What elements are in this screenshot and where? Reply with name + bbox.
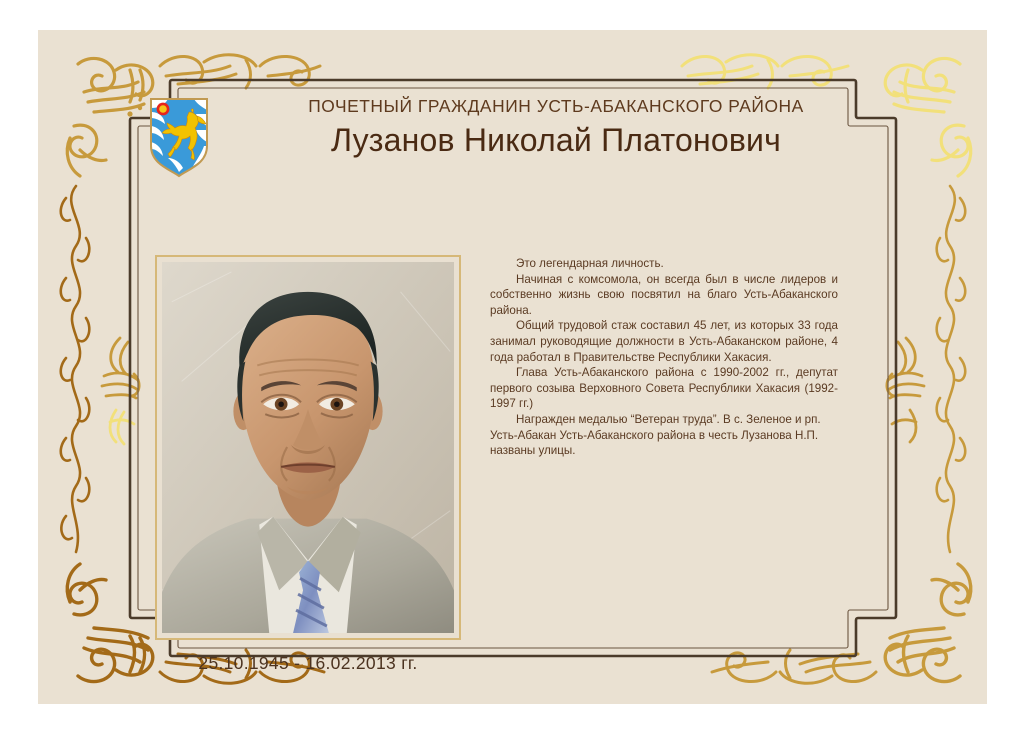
bio-paragraph: Глава Усть-Абаканского района с 1990-200…	[490, 365, 838, 412]
biography-text: Это легендарная личность. Начиная с комс…	[490, 256, 838, 459]
certificate-content: ПОЧЕТНЫЙ ГРАЖДАНИН УСТЬ-АБАКАНСКОГО РАЙО…	[138, 88, 890, 650]
bio-paragraph: Это легендарная личность.	[490, 256, 838, 272]
life-dates: 25.10.1945 - 16.02.2013 гг.	[155, 653, 461, 674]
bio-paragraph: Начиная с комсомола, он всегда был в чис…	[490, 272, 838, 319]
certificate-card: ПОЧЕТНЫЙ ГРАЖДАНИН УСТЬ-АБАКАНСКОГО РАЙО…	[38, 30, 987, 704]
person-name: Лузанов Николай Платонович	[222, 120, 890, 160]
certificate-page: ПОЧЕТНЫЙ ГРАЖДАНИН УСТЬ-АБАКАНСКОГО РАЙО…	[0, 0, 1024, 733]
heading-block: ПОЧЕТНЫЙ ГРАЖДАНИН УСТЬ-АБАКАНСКОГО РАЙО…	[222, 94, 890, 160]
certificate-header: ПОЧЕТНЫЙ ГРАЖДАНИН УСТЬ-АБАКАНСКОГО РАЙО…	[148, 94, 890, 186]
bio-paragraph: Общий трудовой стаж составил 45 лет, из …	[490, 318, 838, 365]
portrait-frame	[155, 255, 461, 640]
bio-paragraph: Награжден медалью “Ветеран труда”. В с. …	[490, 412, 838, 459]
coat-of-arms-icon	[148, 96, 210, 178]
ornament-right-braid	[928, 180, 974, 560]
certificate-kicker: ПОЧЕТНЫЙ ГРАЖДАНИН УСТЬ-АБАКАНСКОГО РАЙО…	[222, 94, 890, 118]
portrait-photo	[162, 262, 454, 633]
ornament-left-braid	[52, 180, 98, 560]
